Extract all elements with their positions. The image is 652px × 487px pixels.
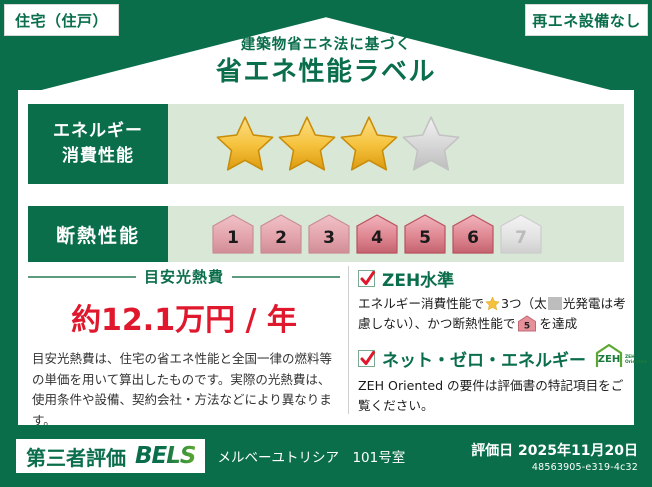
- house-grade-number: 6: [450, 228, 496, 248]
- house-grade-2: 2: [258, 213, 304, 255]
- house-grade-6: 6: [450, 213, 496, 255]
- check-icon: [359, 268, 376, 288]
- footer-bar: 第三者評価 BELS メルベーユトリシア 101号室 評価日 2025年11月2…: [0, 425, 652, 487]
- zeh-panel: ZEH水準 エネルギー消費性能で3つ（太光発電は考慮しない）、かつ断熱性能で5を…: [358, 266, 634, 421]
- house-grade-number: 2: [258, 228, 304, 248]
- house-grade-number: 5: [402, 228, 448, 248]
- heading-rule-right: [232, 276, 340, 278]
- star-filled-icon: [276, 113, 338, 175]
- zeh-oriented-header: ネット・ゼロ・エネルギー ZEH ZEH Oriented: [358, 343, 634, 373]
- house-icon: 5: [517, 315, 537, 332]
- house-grade-number: 3: [306, 228, 352, 248]
- utility-cost-value: 約12.1万円 / 年: [28, 295, 340, 339]
- utility-cost-heading-text: 目安光熱費: [144, 266, 224, 287]
- house-grade-number: 7: [498, 228, 544, 248]
- heading-rule-left: [28, 276, 136, 278]
- utility-cost-heading: 目安光熱費: [28, 266, 340, 287]
- zeh-logo: ZEH ZEH Oriented: [595, 343, 647, 373]
- star-filled-icon: [214, 113, 276, 175]
- zeh-standard-header: ZEH水準: [358, 266, 634, 291]
- zeh-oriented-description: ZEH Oriented の要件は評価書の特記項目をご覧ください。: [358, 376, 634, 415]
- house-grade-number: 1: [210, 228, 256, 248]
- zeh-desc-part1: エネルギー消費性能で: [358, 296, 484, 311]
- insulation-performance-value: 1234567: [168, 206, 624, 262]
- star-rating: [214, 113, 462, 175]
- zeh-desc-part2: 3つ（太: [501, 296, 547, 311]
- footer-eval-info: 評価日 2025年11月20日 48563905-e319-4c32: [471, 440, 638, 473]
- house-grade-7: 7: [498, 213, 544, 255]
- insulation-performance-row: 断熱性能 1234567: [28, 206, 624, 262]
- house-grade-3: 3: [306, 213, 352, 255]
- evaluation-date: 評価日 2025年11月20日: [471, 440, 638, 460]
- page-title: 省エネ性能ラベル: [0, 56, 652, 89]
- house-grade-number: 4: [354, 228, 400, 248]
- title-subtitle: 建築物省エネ法に基づく: [0, 38, 652, 54]
- zeh-standard-description: エネルギー消費性能で3つ（太光発電は考慮しない）、かつ断熱性能で5を達成: [358, 294, 634, 337]
- house-grade-1: 1: [210, 213, 256, 255]
- energy-label-line1: エネルギー: [53, 119, 143, 144]
- star-empty-icon: [400, 113, 462, 175]
- house-grade-scale: 1234567: [210, 213, 544, 255]
- house-grade-4: 4: [354, 213, 400, 255]
- badge-building-type: 住宅（住戸）: [4, 4, 119, 36]
- energy-performance-value: [168, 104, 624, 184]
- energy-label-line2: 消費性能: [62, 144, 134, 169]
- badge-renewable-equipment: 再エネ設備なし: [525, 4, 648, 36]
- zeh-oriented-item: ネット・ゼロ・エネルギー ZEH ZEH Oriented ZEH Orient…: [358, 343, 634, 415]
- checkbox-zeh-standard[interactable]: [358, 270, 375, 287]
- checkbox-net-zero-energy[interactable]: [358, 350, 375, 367]
- zeh-standard-title: ZEH水準: [382, 266, 454, 291]
- svg-text:5: 5: [524, 321, 530, 331]
- zeh-standard-item: ZEH水準 エネルギー消費性能で3つ（太光発電は考慮しない）、かつ断熱性能で5を…: [358, 266, 634, 337]
- utility-cost-note: 目安光熱費は、住宅の省エネ性能と全国一律の燃料等の単価を用いて算出したものです。…: [28, 349, 340, 432]
- energy-performance-label: エネルギー 消費性能: [28, 104, 168, 184]
- inline-house-badge: 5: [517, 320, 537, 335]
- bels-logo: 第三者評価 BELS: [16, 439, 205, 473]
- svg-text:Oriented: Oriented: [625, 359, 647, 365]
- zeh-desc-part4: を達成: [539, 316, 577, 331]
- check-icon: [359, 348, 376, 368]
- utility-cost-block: 目安光熱費 約12.1万円 / 年 目安光熱費は、住宅の省エネ性能と全国一律の燃…: [28, 266, 340, 432]
- star-filled-icon: [338, 113, 400, 175]
- inline-star-icon: [485, 296, 500, 311]
- energy-label-card: 住宅（住戸） 再エネ設備なし 建築物省エネ法に基づく 省エネ性能ラベル エネルギ…: [0, 0, 652, 487]
- bels-en-text: BELS: [135, 443, 195, 469]
- redacted-character: [548, 297, 562, 310]
- vertical-divider: [348, 266, 349, 414]
- building-name: メルベーユトリシア 101号室: [217, 446, 405, 466]
- evaluation-id: 48563905-e319-4c32: [471, 462, 638, 473]
- house-grade-5: 5: [402, 213, 448, 255]
- energy-performance-row: エネルギー 消費性能: [28, 104, 624, 184]
- title-block: 建築物省エネ法に基づく 省エネ性能ラベル: [0, 38, 652, 88]
- insulation-performance-label: 断熱性能: [28, 206, 168, 262]
- bels-jp-text: 第三者評価: [26, 442, 126, 471]
- svg-text:ZEH: ZEH: [598, 354, 620, 365]
- net-zero-energy-title: ネット・ゼロ・エネルギー: [382, 346, 586, 371]
